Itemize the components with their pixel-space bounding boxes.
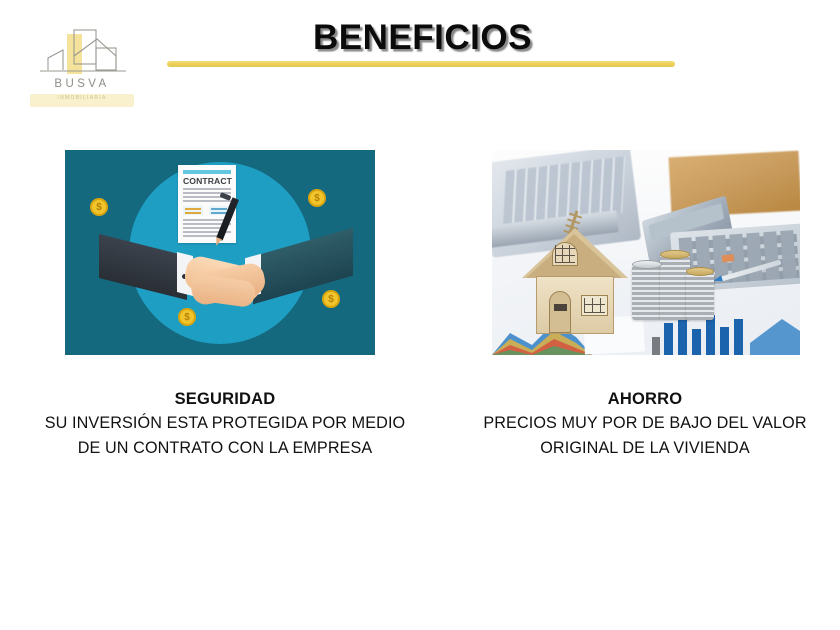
coin-top <box>686 267 714 276</box>
dollar-coin-icon: $ <box>308 189 326 207</box>
brand-logo: BUSVA INMOBILIARIA <box>22 26 142 108</box>
contract-document-icon: CONTRACT <box>178 165 236 243</box>
benefit-image-seguridad: CONTRACT $ $ $ $ <box>65 150 375 355</box>
benefit-body: PRECIOS MUY POR DE BAJO DEL VALOR ORIGIN… <box>455 411 835 461</box>
benefit-heading: SEGURIDAD <box>35 389 415 410</box>
benefit-body: SU INVERSIÓN ESTA PROTEGIDA POR MEDIO DE… <box>35 411 415 461</box>
document-text-line <box>183 200 231 202</box>
house-window <box>581 295 608 316</box>
house-attic-window <box>552 242 578 266</box>
page-title: BENEFICIOS <box>170 18 675 58</box>
document-title: CONTRACT <box>183 176 231 186</box>
document-field-chip <box>183 206 203 215</box>
document-text-line <box>183 188 231 190</box>
coin-top <box>660 250 690 259</box>
dollar-coin-icon: $ <box>322 290 340 308</box>
title-underline-rule <box>167 61 675 67</box>
slide-canvas: BUSVA INMOBILIARIA BENEFICIOS CONTRACT <box>0 0 840 630</box>
house-door <box>549 291 571 333</box>
house-wall <box>536 276 614 334</box>
document-text-line <box>183 235 217 237</box>
benefit-caption-ahorro: AHORRO PRECIOS MUY POR DE BAJO DEL VALOR… <box>455 389 835 461</box>
benefit-image-ahorro <box>492 150 800 355</box>
benefit-caption-seguridad: SEGURIDAD SU INVERSIÓN ESTA PROTEGIDA PO… <box>35 389 415 461</box>
model-house-icon <box>522 208 627 323</box>
document-text-line <box>183 196 223 198</box>
logo-wordmark: BUSVA <box>22 78 142 90</box>
coin-top <box>632 260 662 269</box>
buildings-outline-icon <box>22 26 142 81</box>
document-header-bar <box>183 170 231 174</box>
dollar-coin-icon: $ <box>178 308 196 326</box>
dollar-coin-icon: $ <box>90 198 108 216</box>
coin-stack <box>632 265 662 320</box>
logo-tagline: INMOBILIARIA <box>30 95 134 101</box>
coin-stack <box>686 272 714 320</box>
benefit-heading: AHORRO <box>455 389 835 410</box>
